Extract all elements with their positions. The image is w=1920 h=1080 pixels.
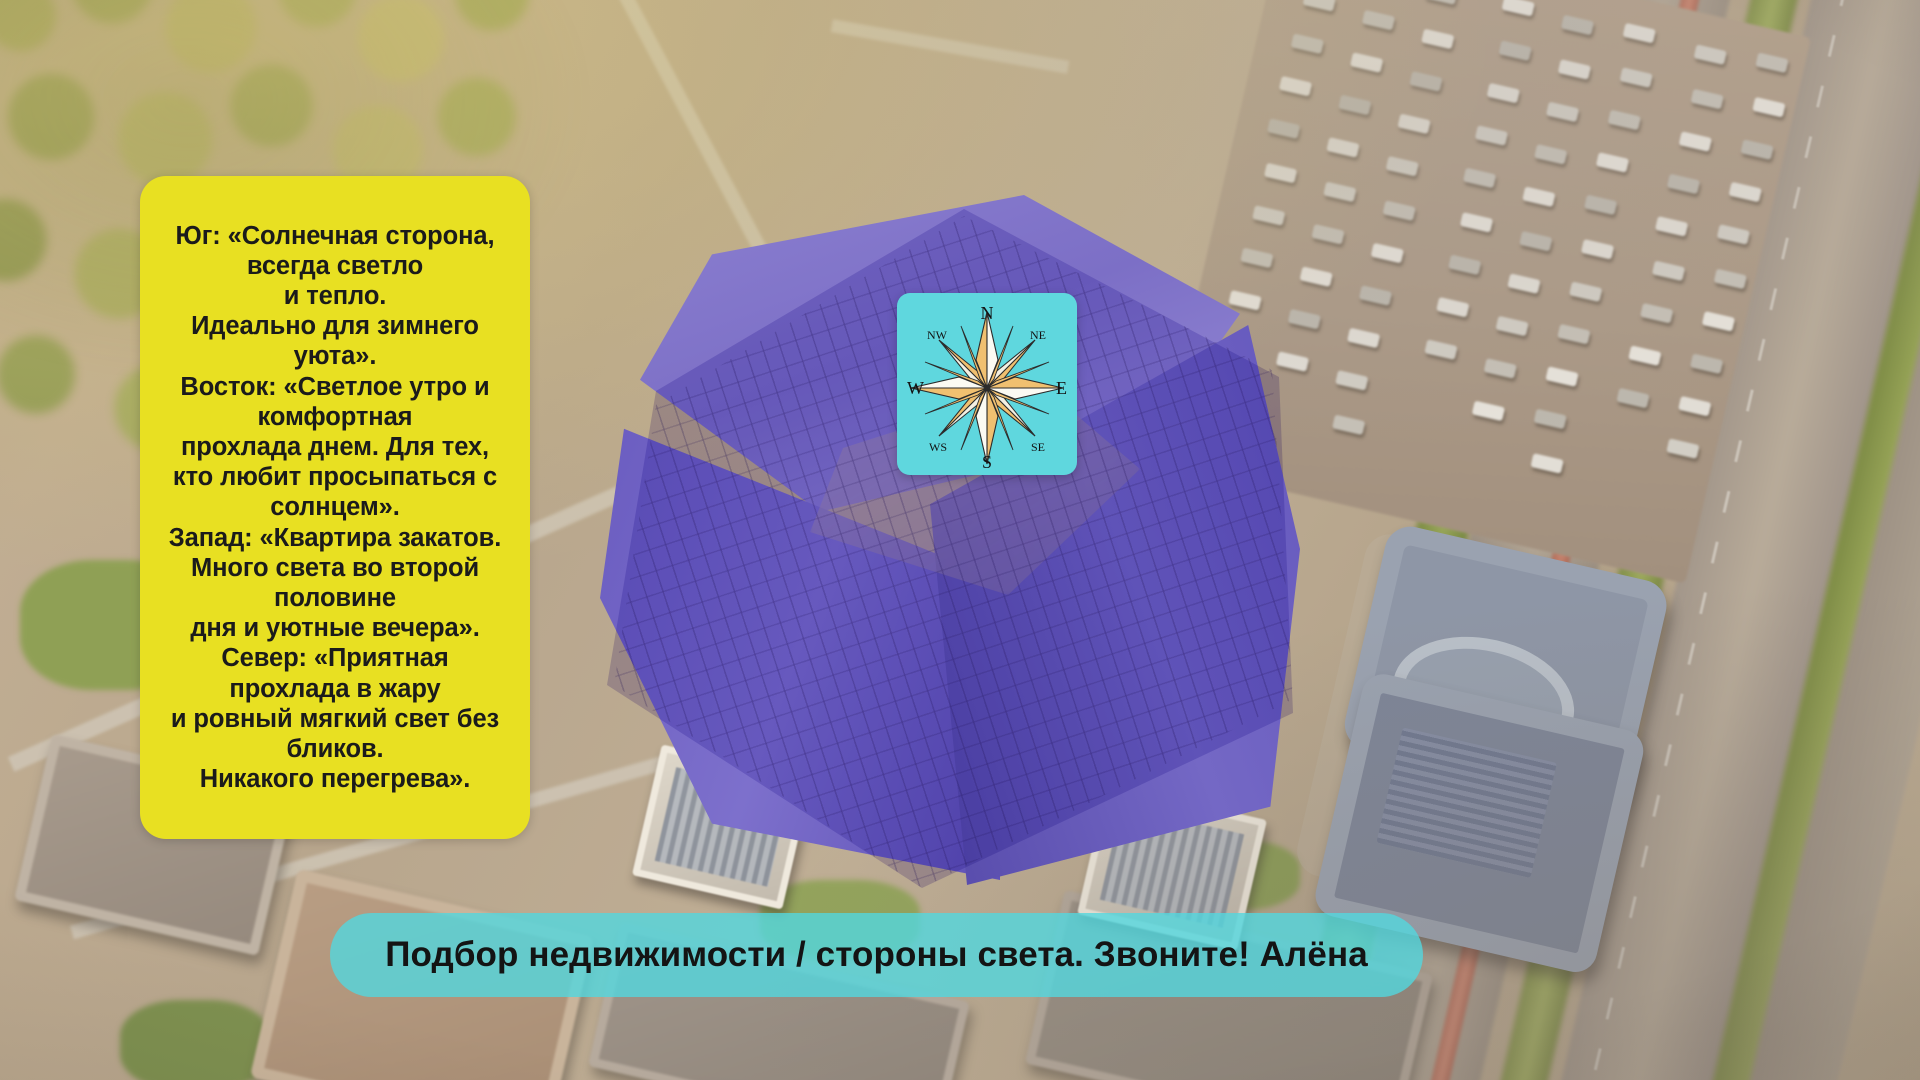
compass-label-se: SE: [1031, 440, 1045, 454]
orientation-info-text: Юг: «Солнечная сторона, всегда светло и …: [140, 221, 530, 795]
compass-label-nw: NW: [927, 328, 948, 342]
contact-banner[interactable]: Подбор недвижимости / стороны света. Зво…: [330, 913, 1423, 997]
poster-canvas: N E S W NW NE WS SE Юг: «Солнечная сторо…: [0, 0, 1920, 1080]
compass-label-w: W: [907, 378, 924, 398]
compass-rose-icon: N E S W NW NE WS SE: [897, 293, 1077, 475]
compass-label-ne: NE: [1030, 328, 1046, 342]
compass-label-e: E: [1056, 378, 1067, 398]
orientation-info-card: Юг: «Солнечная сторона, всегда светло и …: [140, 176, 530, 839]
compass-label-s: S: [982, 452, 992, 472]
compass-label-ws: WS: [929, 440, 947, 454]
contact-banner-text: Подбор недвижимости / стороны света. Зво…: [385, 935, 1368, 975]
compass-label-n: N: [981, 303, 994, 323]
compass-rose-card: N E S W NW NE WS SE: [897, 293, 1077, 475]
